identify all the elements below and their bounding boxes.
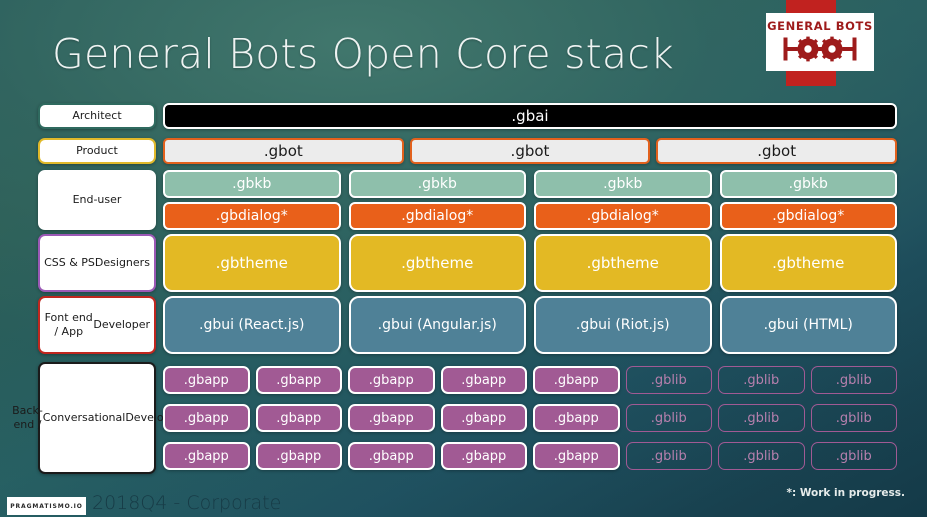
layer-gbapp: .gbapp	[348, 404, 435, 432]
layer-gbtheme: .gbtheme	[720, 234, 898, 292]
layer-gblib: .gblib	[626, 366, 713, 394]
layer-gbapp: .gbapp	[533, 442, 620, 470]
role-label-architect: Architect	[38, 103, 156, 129]
layer-gbdialog: .gbdialog*	[349, 202, 527, 230]
slide-canvas: General Bots Open Core stack GENERAL BOT…	[0, 0, 927, 517]
footnote: *: Work in progress.	[786, 487, 905, 499]
layer-gbdialog: .gbdialog*	[534, 202, 712, 230]
layer-gbapp: .gbapp	[533, 366, 620, 394]
layer-gbui: .gbui (Angular.js)	[349, 296, 527, 354]
role-label-line: Product	[76, 144, 118, 158]
role-label-line: Architect	[72, 109, 121, 123]
role-label-line: Back-end /	[12, 404, 43, 432]
layer-gblib: .gblib	[811, 366, 898, 394]
layer-gbui: .gbui (Riot.js)	[534, 296, 712, 354]
page-title: General Bots Open Core stack	[52, 32, 674, 77]
layer-gbapp: .gbapp	[441, 442, 528, 470]
layer-gblib: .gblib	[718, 404, 805, 432]
role-label-line: CSS & PS	[44, 256, 95, 270]
layer-gbtheme: .gbtheme	[163, 234, 341, 292]
layer-gbapp: .gbapp	[348, 366, 435, 394]
layer-gbot: .gbot	[410, 138, 651, 164]
layer-gbapp: .gbapp	[163, 366, 250, 394]
footer-label: 2018Q4 - Corporate	[92, 492, 281, 514]
layer-gbdialog: .gbdialog*	[163, 202, 341, 230]
layer-gbkb: .gbkb	[534, 170, 712, 198]
role-label-product: Product	[38, 138, 156, 164]
layer-gbapp: .gbapp	[256, 442, 343, 470]
layer-gbot: .gbot	[656, 138, 897, 164]
role-label-line: End-user	[73, 193, 122, 207]
role-label-back-end: Back-end /ConversationalDeveloper	[38, 362, 156, 474]
layer-gbdialog: .gbdialog*	[720, 202, 898, 230]
layer-gbtheme: .gbtheme	[349, 234, 527, 292]
role-label-line: Developer	[93, 318, 150, 332]
layer-gblib: .gblib	[626, 404, 713, 432]
role-label-css-ps: CSS & PSDesigners	[38, 234, 156, 292]
general-bots-logo: GENERAL BOTS	[766, 13, 874, 71]
role-label-line: Conversational	[43, 411, 126, 425]
role-label-end-user: End-user	[38, 170, 156, 230]
role-label-font-end-app: Font end / AppDeveloper	[38, 296, 156, 354]
layer-gbapp: .gbapp	[348, 442, 435, 470]
layer-gbtheme: .gbtheme	[534, 234, 712, 292]
layer-gblib: .gblib	[811, 442, 898, 470]
layer-gbapp: .gbapp	[533, 404, 620, 432]
layer-gbapp: .gbapp	[163, 442, 250, 470]
layer-gbkb: .gbkb	[163, 170, 341, 198]
layer-gbapp: .gbapp	[441, 404, 528, 432]
layer-gblib: .gblib	[626, 442, 713, 470]
logo-wordmark: GENERAL BOTS	[767, 21, 873, 33]
layer-gbapp: .gbapp	[163, 404, 250, 432]
two-gears-icon	[780, 35, 860, 63]
role-label-line: Font end / App	[44, 311, 93, 339]
layer-gbot: .gbot	[163, 138, 404, 164]
layer-gbapp: .gbapp	[256, 404, 343, 432]
layer-gbui: .gbui (React.js)	[163, 296, 341, 354]
layer-gbkb: .gbkb	[349, 170, 527, 198]
role-label-line: Designers	[95, 256, 150, 270]
layer-gblib: .gblib	[811, 404, 898, 432]
layer-gbui: .gbui (HTML)	[720, 296, 898, 354]
layer-gbapp: .gbapp	[441, 366, 528, 394]
layer-gbkb: .gbkb	[720, 170, 898, 198]
pragmatismo-badge-label: PRAGMATISMO.IO	[10, 503, 83, 510]
pragmatismo-badge: PRAGMATISMO.IO	[7, 497, 86, 515]
layer-gblib: .gblib	[718, 442, 805, 470]
layer-gbai: .gbai	[163, 103, 897, 129]
layer-gblib: .gblib	[718, 366, 805, 394]
layer-gbapp: .gbapp	[256, 366, 343, 394]
